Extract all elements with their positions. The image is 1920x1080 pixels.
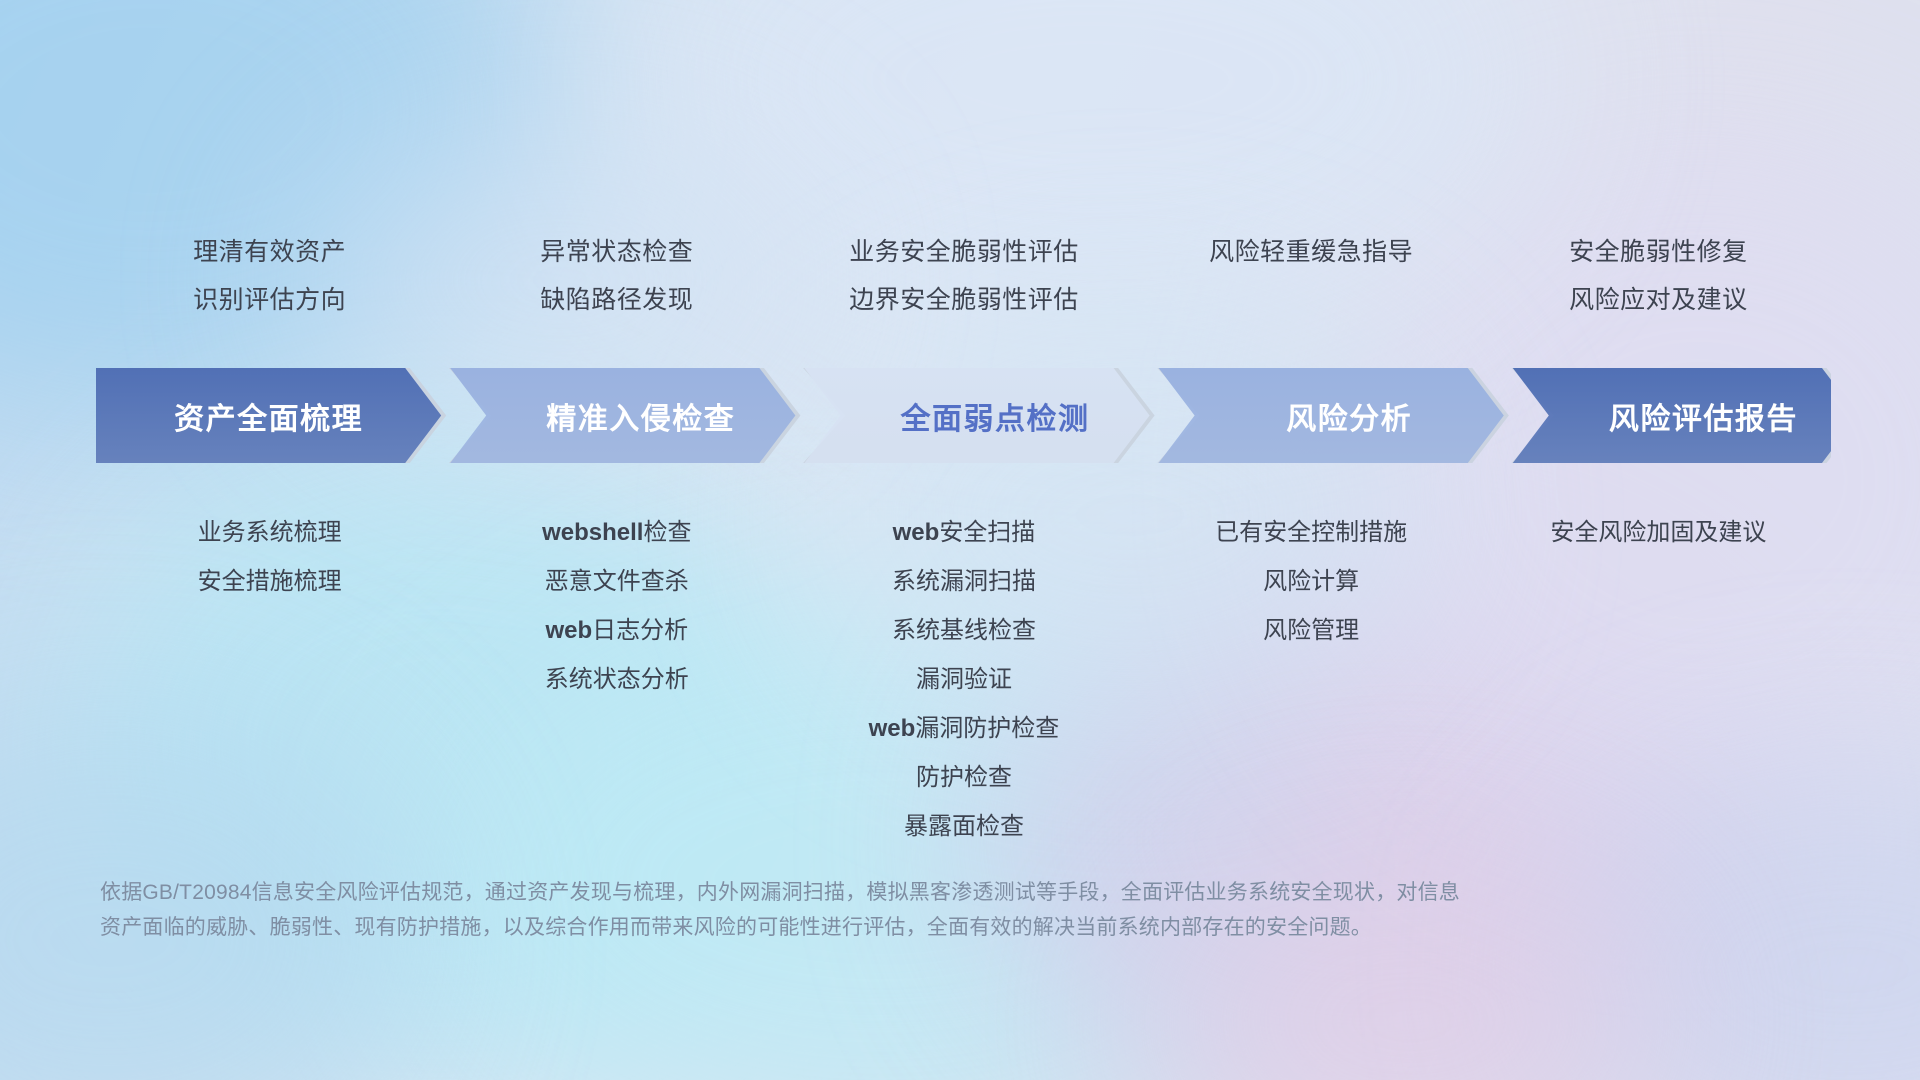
footer-description: 依据GB/T20984信息安全风险评估规范，通过资产发现与梳理，内外网漏洞扫描，… [100,875,1620,945]
bottom-list-item: 安全措施梳理 [96,557,443,606]
top-label-item: 安全脆弱性修复 [1485,228,1832,276]
bottom-list-item: 业务系统梳理 [96,508,443,557]
footer-line-1: 依据GB/T20984信息安全风险评估规范，通过资产发现与梳理，内外网漏洞扫描，… [100,875,1620,910]
bottom-list-item: 安全风险加固及建议 [1485,508,1832,557]
bottom-list-item: 已有安全控制措施 [1138,508,1485,557]
bottom-list-item: 系统漏洞扫描 [790,557,1137,606]
top-labels-stage-risk-report: 安全脆弱性修复风险应对及建议 [1485,228,1832,324]
arrow-title-stage-risk-report[interactable]: 风险评估报告 [1549,368,1858,463]
bottom-list-item-keyword: web [545,617,592,644]
bottom-list-item: web漏洞防护检查 [790,704,1137,753]
top-labels-stage-intrusion-check: 异常状态检查缺陷路径发现 [443,228,790,324]
bottom-list-item: 风险计算 [1138,557,1485,606]
slide-canvas: 理清有效资产识别评估方向异常状态检查缺陷路径发现业务安全脆弱性评估边界安全脆弱性… [0,0,1920,1080]
top-label-item: 风险轻重缓急指导 [1138,228,1485,276]
bottom-list-item: 风险管理 [1138,606,1485,655]
bottom-list-item-keyword: web [869,715,916,742]
bottom-list-stage-risk-report: 安全风险加固及建议 [1485,508,1832,557]
top-label-item: 理清有效资产 [96,228,443,276]
stage-bottom-lists-row: 业务系统梳理安全措施梳理webshell检查恶意文件查杀web日志分析系统状态分… [96,508,1832,851]
arrow-title-stage-asset-review[interactable]: 资产全面梳理 [96,368,441,463]
top-label-item: 缺陷路径发现 [443,276,790,324]
stage-top-labels-row: 理清有效资产识别评估方向异常状态检查缺陷路径发现业务安全脆弱性评估边界安全脆弱性… [96,228,1832,324]
bottom-list-item: 系统状态分析 [443,655,790,704]
bottom-list-item: 暴露面检查 [790,802,1137,851]
top-labels-stage-asset-review: 理清有效资产识别评估方向 [96,228,443,324]
top-label-item: 异常状态检查 [443,228,790,276]
bottom-list-stage-intrusion-check: webshell检查恶意文件查杀web日志分析系统状态分析 [443,508,790,704]
bottom-list-item: 恶意文件查杀 [443,557,790,606]
bottom-list-stage-risk-analysis: 已有安全控制措施风险计算风险管理 [1138,508,1485,655]
top-labels-stage-weakness-detection: 业务安全脆弱性评估边界安全脆弱性评估 [790,228,1137,324]
bottom-list-item: web安全扫描 [790,508,1137,557]
process-arrow-labels: 资产全面梳理精准入侵检查全面弱点检测风险分析风险评估报告 [96,368,1831,463]
top-label-item: 业务安全脆弱性评估 [790,228,1137,276]
bottom-list-stage-weakness-detection: web安全扫描系统漏洞扫描系统基线检查漏洞验证web漏洞防护检查防护检查暴露面检… [790,508,1137,851]
process-arrow-banner: 资产全面梳理精准入侵检查全面弱点检测风险分析风险评估报告 [96,368,1831,463]
footer-line-2: 资产面临的威胁、脆弱性、现有防护措施，以及综合作用而带来风险的可能性进行评估，全… [100,910,1620,945]
bottom-list-item: 防护检查 [790,753,1137,802]
arrow-title-stage-intrusion-check[interactable]: 精准入侵检查 [486,368,795,463]
bottom-list-item: 系统基线检查 [790,606,1137,655]
arrow-title-stage-weakness-detection[interactable]: 全面弱点检测 [840,368,1149,463]
top-label-item: 风险应对及建议 [1485,276,1832,324]
top-label-item: 边界安全脆弱性评估 [790,276,1137,324]
bottom-list-item-keyword: web [893,519,940,546]
arrow-title-stage-risk-analysis[interactable]: 风险分析 [1195,368,1504,463]
bottom-list-item: 漏洞验证 [790,655,1137,704]
bottom-list-item-keyword: webshell [542,519,643,546]
bottom-list-stage-asset-review: 业务系统梳理安全措施梳理 [96,508,443,606]
bottom-list-item: webshell检查 [443,508,790,557]
top-labels-stage-risk-analysis: 风险轻重缓急指导 [1138,228,1485,324]
top-label-item: 识别评估方向 [96,276,443,324]
bottom-list-item: web日志分析 [443,606,790,655]
